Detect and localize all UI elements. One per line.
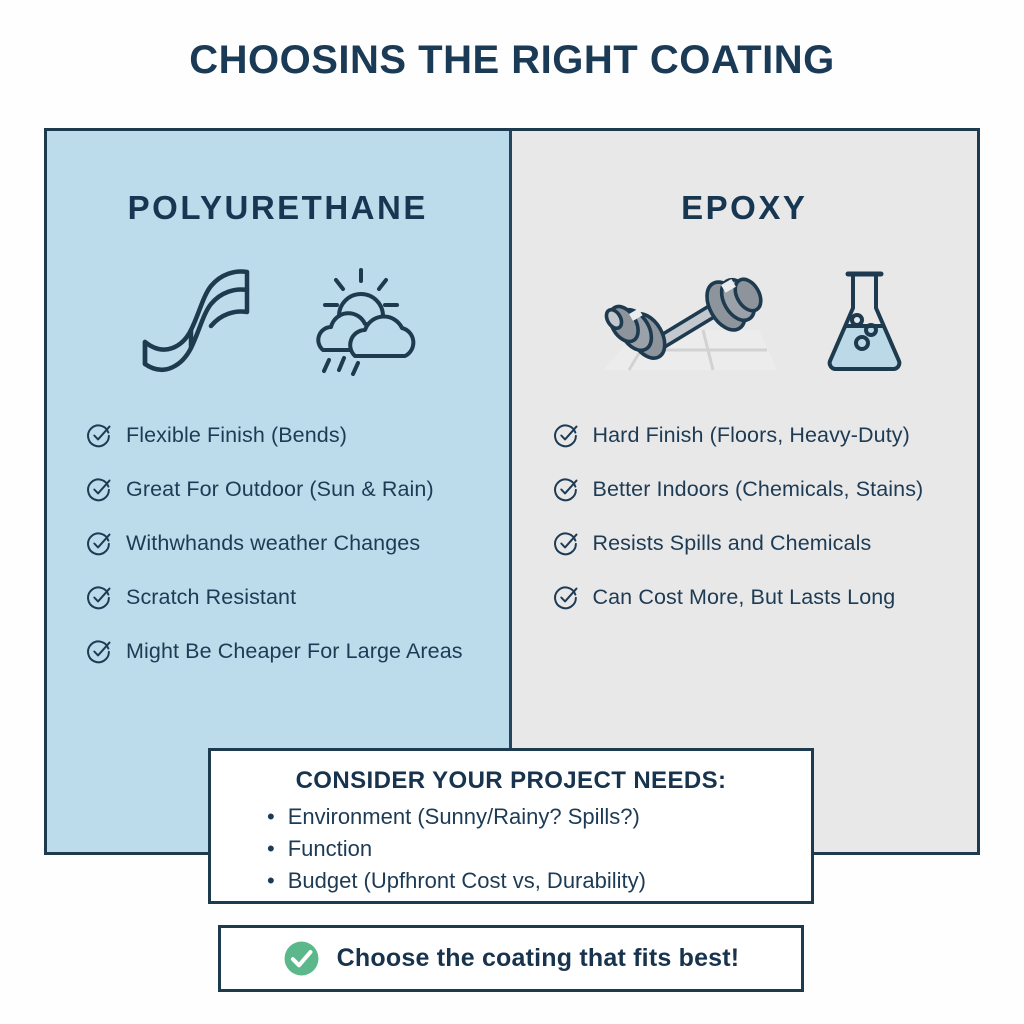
needs-title: CONSIDER YOUR PROJECT NEEDS:	[211, 767, 811, 795]
page-title: CHOOSINS THE RIGHT COATING	[0, 38, 1024, 83]
list-item: • Environment (Sunny/Rainy? Spills?)	[267, 804, 811, 830]
dumbbell-icon	[581, 258, 776, 381]
flask-icon	[822, 264, 908, 381]
check-circle-icon	[554, 585, 579, 610]
feature-text: Might Be Cheaper For Large Areas	[126, 640, 463, 664]
feature-text: Can Cost More, But Lasts Long	[593, 586, 896, 610]
green-check-circle-icon	[283, 940, 320, 977]
icon-row-polyurethane	[47, 261, 509, 381]
list-item: Flexible Finish (Bends)	[87, 423, 509, 448]
column-epoxy: EPOXY	[512, 131, 978, 852]
list-item: Hard Finish (Floors, Heavy-Duty)	[554, 423, 978, 448]
check-circle-icon	[87, 585, 112, 610]
needs-item-text: Budget (Upfhront Cost vs, Durability)	[288, 868, 646, 894]
needs-item-text: Function	[288, 836, 372, 862]
bullet-icon: •	[267, 838, 275, 860]
bullet-icon: •	[267, 806, 275, 828]
list-item: Scratch Resistant	[87, 585, 509, 610]
cta-text: Choose the coating that fits best!	[337, 944, 740, 973]
check-circle-icon	[87, 531, 112, 556]
comparison-panel: POLYURETHANE	[44, 128, 980, 855]
feature-text: Flexible Finish (Bends)	[126, 424, 347, 448]
bullet-icon: •	[267, 870, 275, 892]
feature-text: Great For Outdoor (Sun & Rain)	[126, 478, 434, 502]
cta-box: Choose the coating that fits best!	[218, 925, 804, 992]
feature-text: Resists Spills and Chemicals	[593, 532, 872, 556]
list-item: Resists Spills and Chemicals	[554, 531, 978, 556]
feature-text: Withwhands weather Changes	[126, 532, 420, 556]
flexible-sheet-icon	[131, 266, 261, 381]
list-item: • Function	[267, 836, 811, 862]
project-needs-box: CONSIDER YOUR PROJECT NEEDS: • Environme…	[208, 748, 814, 904]
check-circle-icon	[87, 639, 112, 664]
feature-text: Better Indoors (Chemicals, Stains)	[593, 478, 924, 502]
list-item: Withwhands weather Changes	[87, 531, 509, 556]
sun-cloud-rain-icon	[305, 264, 425, 381]
list-item: Can Cost More, But Lasts Long	[554, 585, 978, 610]
check-circle-icon	[87, 477, 112, 502]
check-circle-icon	[554, 531, 579, 556]
check-circle-icon	[554, 423, 579, 448]
icon-row-epoxy	[512, 261, 978, 381]
feature-text: Scratch Resistant	[126, 586, 296, 610]
feature-list-polyurethane: Flexible Finish (Bends) Great For Outdoo…	[47, 423, 509, 664]
infographic-page: CHOOSINS THE RIGHT COATING POLYURETHANE	[0, 0, 1024, 1024]
column-polyurethane: POLYURETHANE	[47, 131, 512, 852]
column-title-epoxy: EPOXY	[512, 189, 978, 227]
list-item: Great For Outdoor (Sun & Rain)	[87, 477, 509, 502]
needs-item-text: Environment (Sunny/Rainy? Spills?)	[288, 804, 640, 830]
check-circle-icon	[554, 477, 579, 502]
feature-list-epoxy: Hard Finish (Floors, Heavy-Duty) Better …	[512, 423, 978, 610]
column-title-polyurethane: POLYURETHANE	[47, 189, 509, 227]
feature-text: Hard Finish (Floors, Heavy-Duty)	[593, 424, 910, 448]
list-item: • Budget (Upfhront Cost vs, Durability)	[267, 868, 811, 894]
needs-list: • Environment (Sunny/Rainy? Spills?) • F…	[267, 804, 811, 894]
list-item: Better Indoors (Chemicals, Stains)	[554, 477, 978, 502]
list-item: Might Be Cheaper For Large Areas	[87, 639, 509, 664]
check-circle-icon	[87, 423, 112, 448]
